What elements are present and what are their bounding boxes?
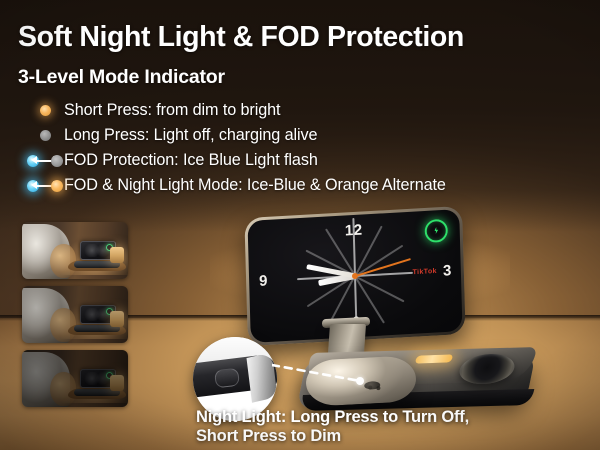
ice-blue-orange-double-arrow-icon [26, 175, 64, 197]
list-item: FOD & Night Light Mode: Ice-Blue & Orang… [26, 173, 586, 198]
list-item: FOD Protection: Ice Blue Light flash [26, 148, 586, 173]
clock-number-3: 3 [443, 262, 452, 279]
clock-number-12: 12 [345, 222, 363, 240]
hero-product-scene: 12 3 6 9 TikTok [236, 206, 566, 426]
night-light-caption: Night Light: Long Press to Turn Off, Sho… [196, 408, 469, 446]
ice-blue-gray-double-arrow-icon [26, 150, 64, 172]
clock-number-9: 9 [259, 272, 268, 289]
promo-image-root: Soft Night Light & FOD Protection 3-Leve… [0, 0, 600, 450]
list-item-label: FOD & Night Light Mode: Ice-Blue & Orang… [64, 176, 446, 195]
bedroom-brightness-level-2 [22, 286, 128, 343]
page-title: Soft Night Light & FOD Protection [18, 21, 464, 54]
brand-watermark: TikTok [412, 268, 436, 276]
list-item-label: FOD Protection: Ice Blue Light flash [64, 151, 318, 170]
brightness-thumbnail-strip [22, 222, 128, 414]
list-item: Long Press: Light off, charging alive [26, 123, 586, 148]
caption-line-1: Night Light: Long Press to Turn Off, [196, 408, 469, 427]
amber-night-light-strip [414, 354, 453, 363]
section-subtitle: 3-Level Mode Indicator [18, 66, 225, 89]
list-item-label: Short Press: from dim to bright [64, 101, 280, 120]
bedroom-brightness-level-3 [22, 350, 128, 407]
list-item-label: Long Press: Light off, charging alive [64, 126, 317, 145]
bedroom-brightness-level-1 [22, 222, 128, 279]
gray-dot-icon [26, 125, 64, 147]
charger-base [286, 348, 536, 414]
callout-leader-endpoint [356, 377, 364, 385]
mode-indicator-list: Short Press: from dim to bright Long Pre… [26, 98, 586, 198]
list-item: Short Press: from dim to bright [26, 98, 586, 123]
orange-dot-icon [26, 100, 64, 122]
caption-line-2: Short Press to Dim [196, 427, 469, 446]
